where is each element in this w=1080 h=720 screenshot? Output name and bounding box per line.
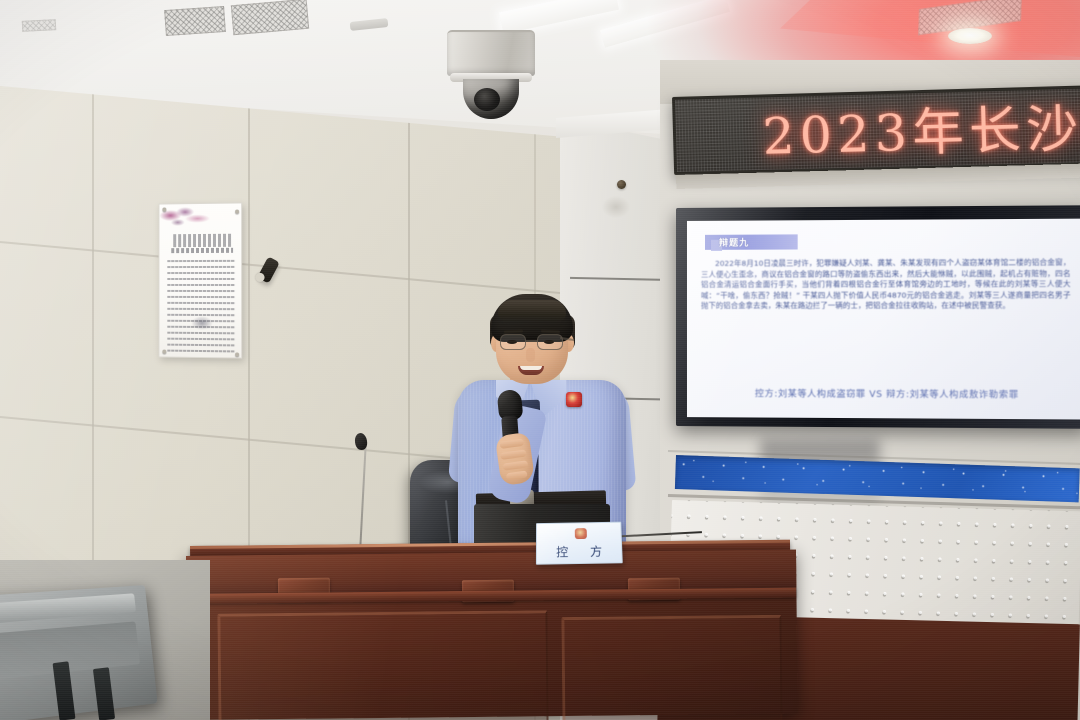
pillar-smudge [602, 196, 630, 218]
hand-holding-microphone [495, 432, 536, 486]
led-banner-text: 2023年长沙检 [762, 91, 1080, 172]
dome-security-camera [447, 30, 535, 122]
pillar-fixture-icon [617, 180, 626, 189]
poster-floral-graphic [159, 204, 221, 233]
poster-pin-bl [162, 350, 166, 354]
glasses-bridge [525, 340, 538, 342]
poster-pin-tl [162, 207, 166, 211]
nose [526, 348, 535, 362]
camera-lens-icon [474, 88, 500, 111]
speaker-person [438, 296, 648, 560]
presentation-screen[interactable]: 辩题九 2022年8月10日凌晨三时许，犯罪嫌疑人刘某、龚某、朱某发现有四个人盗… [676, 205, 1080, 429]
teeth [520, 366, 542, 370]
led-banner-display: 2023年长沙检 [672, 85, 1080, 175]
finger-1 [499, 439, 524, 449]
lapel-badge-icon [566, 392, 582, 407]
monitor-top-lip [0, 593, 136, 623]
poster-subtitle-line [171, 248, 233, 253]
ceiling-downlight [948, 28, 992, 44]
slide-topic-label: 辩题九 [719, 236, 749, 249]
ceiling-vent-left [164, 6, 226, 36]
finger-2 [500, 449, 527, 460]
camera-housing [447, 30, 535, 76]
finger-3 [503, 460, 529, 470]
desk-panel-left [217, 610, 548, 720]
poster-body-text [167, 260, 235, 353]
poster-pin-br [235, 352, 239, 356]
slide-body-text: 2022年8月10日凌晨三时许，犯罪嫌疑人刘某、龚某、朱某发现有四个人盗窃某体育… [701, 258, 1071, 312]
camera-dome [463, 79, 519, 119]
ceiling-vent-far-left [22, 19, 57, 32]
desk-panel-right [561, 615, 782, 720]
desk-nameplate: 控 方 [536, 522, 623, 565]
slide-surface: 辩题九 2022年8月10日凌晨三时许，犯罪嫌疑人刘某、龚某、朱某发现有四个人盗… [687, 219, 1080, 420]
nameplate-sheen [537, 523, 622, 564]
slide-conclusion-text: 控方:刘某等人构成盗窃罪 VS 辩方:刘某等人构成敖诈勒索罪 [703, 386, 1073, 401]
poster-pin-tr [235, 210, 239, 214]
monitor-back-groove [0, 621, 140, 679]
eye-right [544, 340, 554, 344]
courtroom-presentation-photo: 2023年长沙检 辩题九 2022年8月10日凌晨三时许，犯罪嫌疑人刘某、龚某、… [0, 0, 1080, 720]
poster-stamp [191, 316, 213, 330]
eye-left [507, 340, 517, 344]
hair-fringe [498, 300, 566, 322]
poster-title-line [173, 234, 231, 247]
finger-4 [506, 470, 528, 480]
wall-poster [158, 202, 242, 358]
foreground-monitor-rear [0, 585, 158, 720]
